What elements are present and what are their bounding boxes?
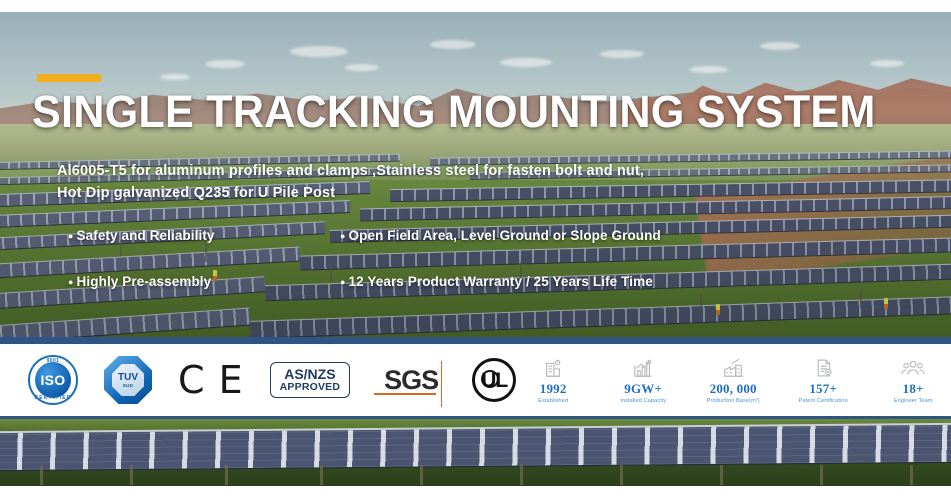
asnzs-line-1: AS/NZS [280, 367, 341, 382]
cert-ce: C E [178, 361, 244, 399]
factory-building-icon [542, 356, 564, 380]
iso-9001-certified-badge-icon: 9001 ISO CERTIFIED [28, 355, 78, 405]
hero-subtitle: Al6005-T5 for aluminum profiles and clam… [57, 160, 877, 205]
mounting-post [420, 465, 423, 485]
tuv-inner-octagon: TUV SUD [112, 364, 144, 396]
sgs-logo-icon: SGS [376, 363, 446, 398]
sgs-horizontal-rule [374, 393, 436, 395]
mounting-post [130, 465, 133, 485]
certification-stats-strip: 9001 ISO CERTIFIED TUV SUD C E [0, 344, 951, 416]
ul-listed-badge-icon: UL [472, 358, 516, 402]
stat-label: Production Base(m²) [707, 398, 760, 404]
product-banner: SINGLE TRACKING MOUNTING SYSTEM Al6005-T… [0, 0, 951, 501]
mounting-post [520, 465, 523, 485]
mounting-post [620, 465, 623, 485]
cert-tuv: TUV SUD [104, 356, 152, 404]
stat-number: 9GW+ [624, 382, 662, 396]
iso-bottom-text: CERTIFIED [30, 395, 76, 401]
cert-ul: UL [472, 358, 516, 402]
bullet-warranty-lifetime: 12 Years Product Warranty / 25 Years Lif… [340, 274, 653, 289]
bar-chart-growth-icon [632, 356, 654, 380]
hero-subtitle-line-1: Al6005-T5 for aluminum profiles and clam… [57, 160, 877, 182]
tuv-sud-badge-icon: TUV SUD [104, 356, 152, 404]
stat-number: 200, 000 [710, 382, 757, 396]
iso-main-text: ISO [40, 372, 65, 388]
stat-number: 157+ [809, 382, 837, 396]
cert-iso: 9001 ISO CERTIFIED [28, 355, 78, 405]
feature-bullet-list: Safety and Reliability Open Field Area, … [68, 228, 768, 320]
stat-label: Installed Capacity [620, 398, 666, 404]
stat-engineer-team: 18+ Engineer Team [876, 356, 950, 404]
bullet-highly-pre-assembly: Highly Pre-assembly [68, 274, 211, 289]
mounting-post [320, 465, 323, 485]
sgs-vertical-rule [441, 361, 443, 407]
page-title: SINGLE TRACKING MOUNTING SYSTEM [32, 88, 876, 135]
panel-cell-texture [0, 425, 951, 471]
bottom-photo-solar-panel-row [0, 416, 951, 486]
stat-label: Engineer Team [894, 398, 933, 404]
certification-logo-list: 9001 ISO CERTIFIED TUV SUD C E [0, 355, 516, 405]
stat-patent-certification: 157+ Patent Certification [786, 356, 860, 404]
cert-sgs: SGS [376, 363, 446, 398]
bullet-safety-reliability: Safety and Reliability [68, 228, 215, 243]
mounting-post [40, 465, 43, 485]
mounting-post [720, 465, 723, 485]
hero-photo-solar-farm: SINGLE TRACKING MOUNTING SYSTEM Al6005-T… [0, 12, 951, 337]
cert-asnzs: AS/NZS APPROVED [270, 362, 351, 398]
company-stats-list: 1992 Established 9GW+ Installed Capacity [516, 356, 951, 404]
mounting-post [225, 465, 228, 485]
tuv-main-text: TUV [118, 373, 138, 383]
bottom-fade-overlay [0, 486, 951, 501]
bullet-row: Highly Pre-assembly 12 Years Product War… [68, 274, 768, 320]
section-divider [0, 337, 951, 344]
sgs-main-text: SGS [384, 367, 438, 394]
mounting-post [820, 465, 823, 485]
stat-number: 18+ [903, 382, 924, 396]
as-nzs-approved-badge-icon: AS/NZS APPROVED [270, 362, 351, 398]
stat-number: 1992 [540, 382, 567, 396]
stat-production-base: 200, 000 Production Base(m²) [696, 356, 770, 404]
stat-label: Patent Certification [799, 398, 848, 404]
bottom-solar-panel-row [0, 423, 951, 472]
ce-mark-icon: C E [178, 361, 244, 399]
stat-installed-capacity: 9GW+ Installed Capacity [606, 356, 680, 404]
iso-top-text: 9001 [30, 358, 76, 364]
mounting-post [910, 465, 913, 485]
tuv-sub-text: SUD [123, 383, 133, 388]
patent-document-icon [813, 356, 834, 380]
stat-label: Established [538, 398, 568, 404]
iso-inner-disc: ISO [35, 362, 71, 398]
stat-established: 1992 Established [516, 356, 590, 404]
hero-subtitle-line-2: Hot Dip galvanized Q235 for U Pile Post [57, 182, 877, 204]
bullet-row: Safety and Reliability Open Field Area, … [68, 228, 768, 274]
accent-bar [37, 74, 101, 82]
asnzs-line-2: APPROVED [280, 382, 341, 393]
engineer-team-icon [901, 356, 925, 380]
production-plant-icon [721, 356, 745, 380]
bullet-open-field-area: Open Field Area, Level Ground or Slope G… [340, 228, 661, 243]
